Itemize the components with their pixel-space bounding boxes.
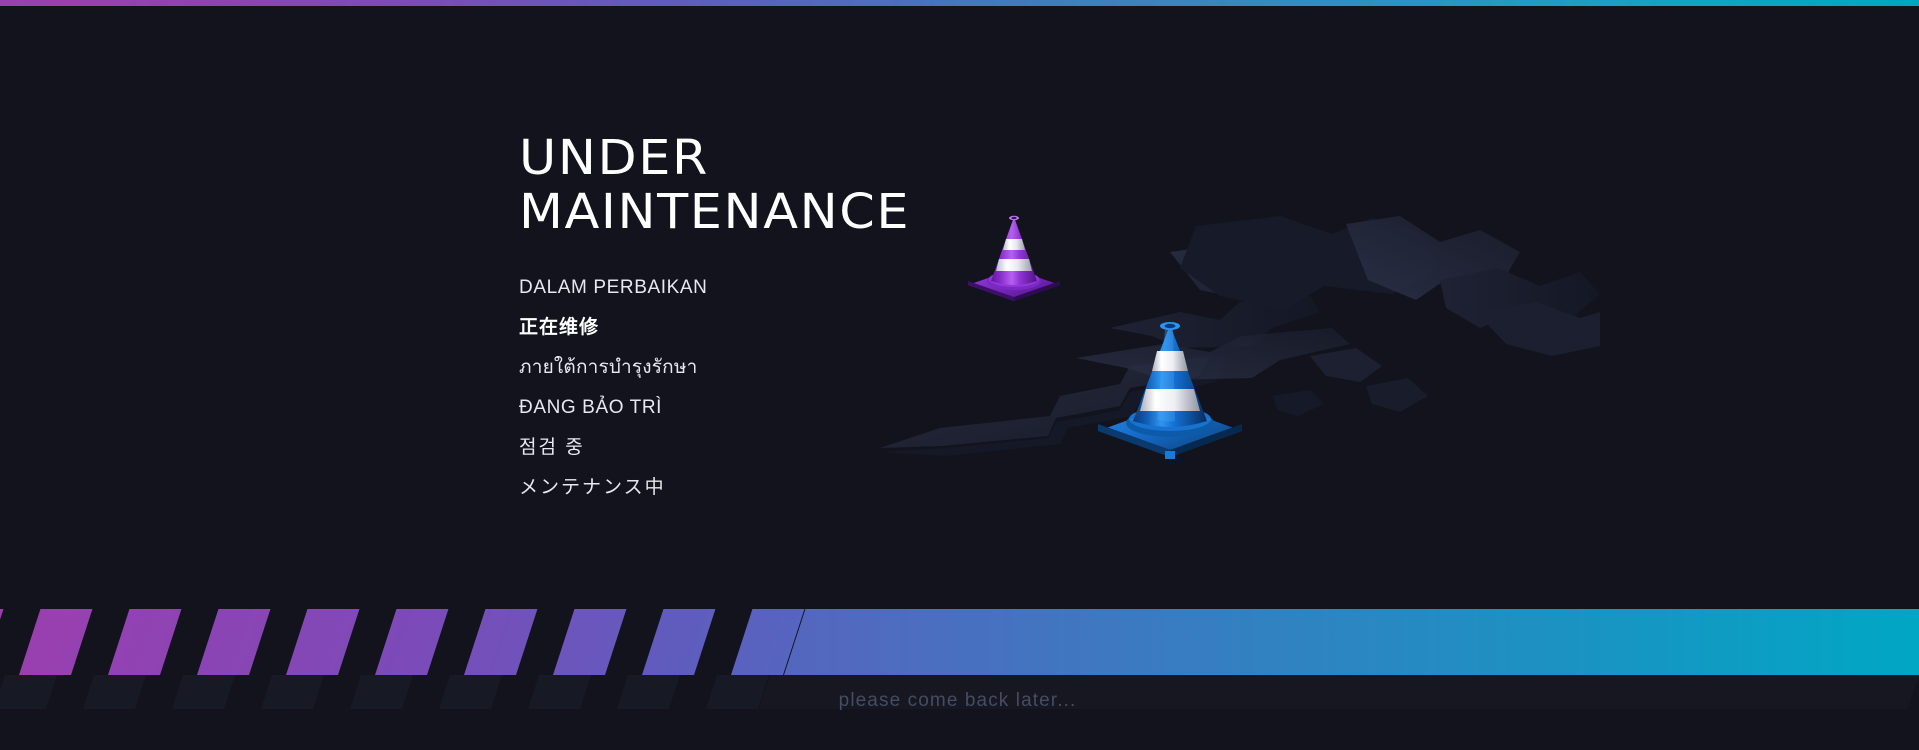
title-line-1: UNDER bbox=[519, 131, 910, 185]
translation-ja: メンテナンス中 bbox=[519, 468, 708, 508]
hazard-stripe bbox=[464, 609, 537, 675]
footer-message-text: please come back later... bbox=[839, 690, 1077, 712]
hazard-stripe bbox=[108, 609, 181, 675]
top-accent-bar bbox=[0, 0, 1919, 6]
translation-th: ภายใต้การบำรุงรักษา bbox=[519, 348, 708, 388]
translation-vi: ĐANG BẢO TRÌ bbox=[519, 388, 708, 428]
hazard-stripe bbox=[375, 609, 448, 675]
translation-id: DALAM PERBAIKAN bbox=[519, 268, 708, 308]
hazard-stripe bbox=[19, 609, 92, 675]
footer: please come back later... bbox=[0, 690, 1919, 750]
footer-message: please come back later... bbox=[0, 690, 1919, 712]
hazard-stripe bbox=[286, 609, 359, 675]
page-title: UNDER MAINTENANCE bbox=[519, 131, 888, 239]
hazard-solid-band bbox=[810, 609, 1919, 675]
hazard-stripe bbox=[197, 609, 270, 675]
title-line-2: MAINTENANCE bbox=[519, 185, 910, 239]
maintenance-page: UNDER MAINTENANCE DALAM PERBAIKAN 正在维修 ภ… bbox=[0, 0, 1919, 750]
traffic-cone-purple bbox=[965, 211, 1063, 301]
hazard-stripe bbox=[0, 609, 3, 675]
hazard-stripe bbox=[642, 609, 715, 675]
translation-ko: 점검 중 bbox=[519, 428, 708, 468]
traffic-cone-blue bbox=[1095, 319, 1245, 459]
hazard-stripe bbox=[553, 609, 626, 675]
translation-zh: 正在维修 bbox=[519, 308, 708, 348]
translation-list: DALAM PERBAIKAN 正在维修 ภายใต้การบำรุงรักษา… bbox=[519, 268, 708, 508]
hero-scene: UNDER MAINTENANCE DALAM PERBAIKAN 正在维修 ภ… bbox=[0, 6, 1919, 606]
hazard-band bbox=[0, 609, 1919, 675]
